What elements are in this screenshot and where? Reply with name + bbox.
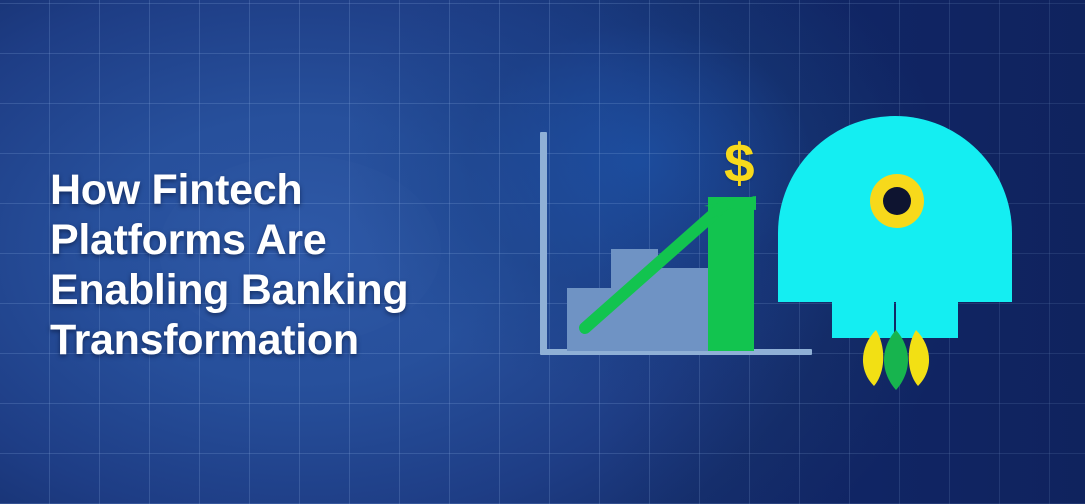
rocket-eye-pupil — [883, 187, 911, 215]
fintech-banner: How Fintech Platforms Are Enabling Banki… — [0, 0, 1085, 504]
rocket-launch-icon — [770, 112, 1020, 392]
dollar-sign-icon: $ — [724, 136, 755, 191]
rocket-flame-icon — [854, 330, 938, 390]
page-title: How Fintech Platforms Are Enabling Banki… — [50, 165, 510, 365]
